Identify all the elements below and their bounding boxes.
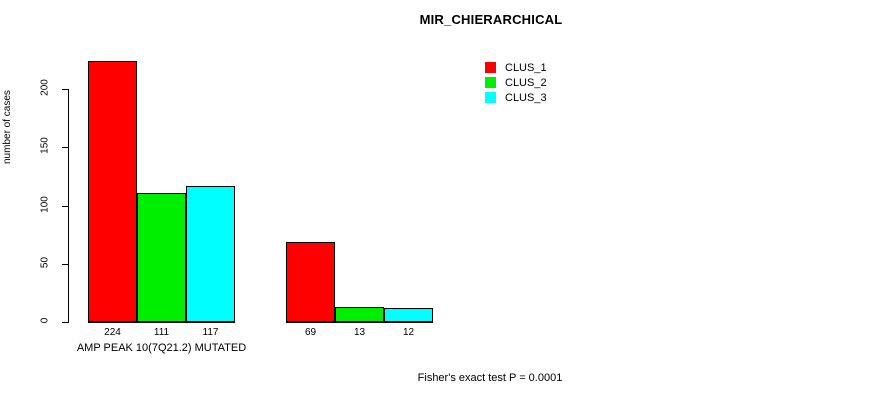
y-axis-tick-label: 200 <box>40 76 51 100</box>
y-axis-tick <box>62 147 69 148</box>
bar-clus_3 <box>384 308 433 322</box>
page-title: MIR_CHIERARCHICAL <box>0 12 890 27</box>
y-axis-tick-label: 50 <box>40 250 51 274</box>
group-baseline <box>286 322 433 323</box>
legend-swatch-icon <box>485 62 496 73</box>
bar-value-label: 224 <box>88 327 137 338</box>
y-axis-tick-label-wrap: 50 <box>33 257 57 271</box>
legend-swatch-icon <box>485 77 496 88</box>
chart-legend: CLUS_1 CLUS_2 CLUS_3 <box>485 60 547 105</box>
y-axis-tick <box>62 322 69 323</box>
bar-value-label: 117 <box>186 327 235 338</box>
bar-clus_2 <box>335 307 384 322</box>
y-axis-tick-label-wrap: 150 <box>33 140 57 154</box>
y-axis-tick-label-wrap: 0 <box>33 315 57 329</box>
legend-item-label: CLUS_3 <box>505 92 547 104</box>
statistical-test-note: Fisher's exact test P = 0.0001 <box>0 372 890 384</box>
y-axis-tick <box>62 89 69 90</box>
bar-clus_2 <box>137 193 186 322</box>
y-axis-tick-label: 100 <box>40 192 51 216</box>
legend-swatch-icon <box>485 92 496 103</box>
bar-clus_1 <box>286 242 335 322</box>
bar-value-label: 12 <box>384 327 433 338</box>
bar-value-label: 69 <box>286 327 335 338</box>
legend-item: CLUS_3 <box>485 90 547 105</box>
group-baseline <box>88 322 235 323</box>
x-axis-group-label: AMP PEAK 10(7Q21.2) MUTATED <box>48 342 275 354</box>
legend-item: CLUS_1 <box>485 60 547 75</box>
y-axis-tick <box>62 206 69 207</box>
bar-clus_1 <box>88 61 137 322</box>
y-axis-tick-label-wrap: 100 <box>33 199 57 213</box>
bar-chart-figure: MIR_CHIERARCHICAL number of cases 050100… <box>0 0 890 400</box>
legend-item-label: CLUS_1 <box>505 62 547 74</box>
y-axis-title: number of cases <box>2 150 13 164</box>
legend-item-label: CLUS_2 <box>505 77 547 89</box>
legend-item: CLUS_2 <box>485 75 547 90</box>
bar-value-label: 111 <box>137 327 186 338</box>
y-axis-tick-label: 150 <box>40 134 51 158</box>
y-axis-tick-label: 0 <box>40 309 51 333</box>
y-axis-tick <box>62 264 69 265</box>
bar-value-label: 13 <box>335 327 384 338</box>
y-axis-tick-label-wrap: 200 <box>33 82 57 96</box>
bar-clus_3 <box>186 186 235 322</box>
